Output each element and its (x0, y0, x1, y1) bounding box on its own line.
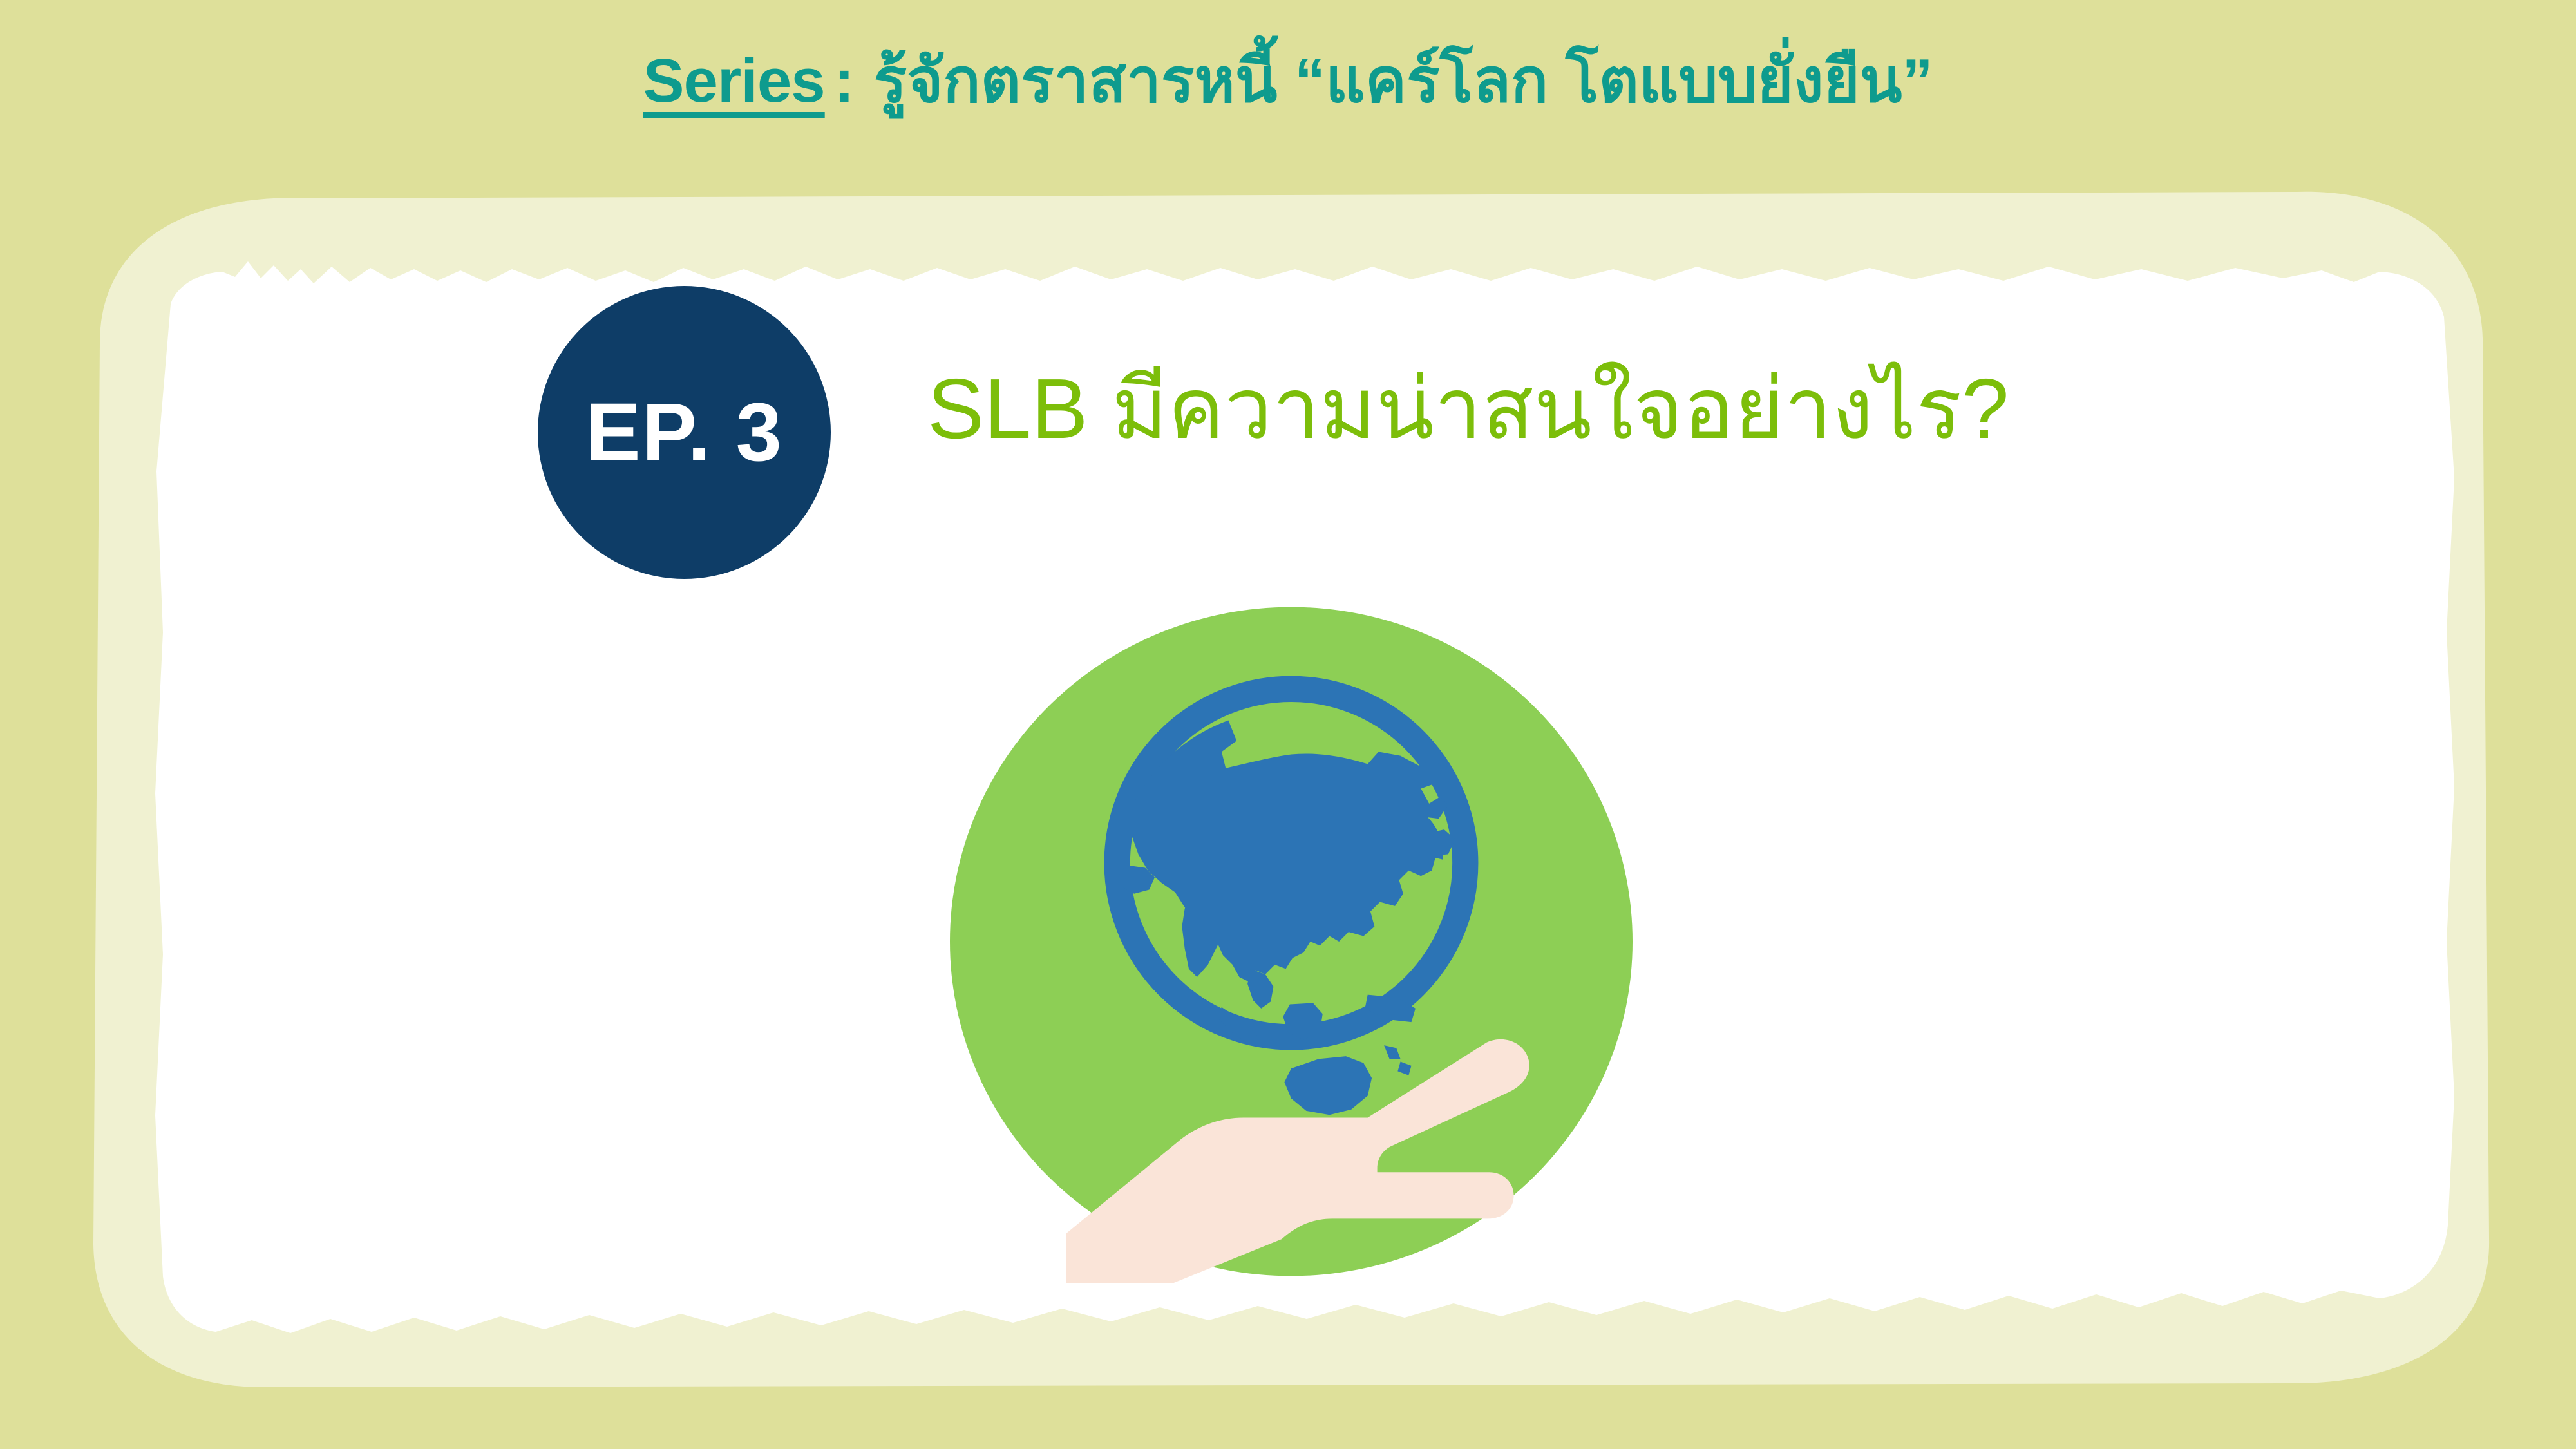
episode-badge: EP. 3 (538, 286, 831, 579)
slide-canvas: Series:รู้จักตราสารหนี้ “แคร์โลก โตแบบยั… (0, 0, 2576, 1449)
hand-holding-globe-illustration (950, 600, 1633, 1283)
series-separator: : (825, 46, 855, 115)
series-topic: รู้จักตราสารหนี้ “แคร์โลก โตแบบยั่งยืน” (855, 46, 1933, 115)
card-content: EP. 3 SLB มีความน่าสนใจอย่างไร? (61, 182, 2508, 1392)
series-label: Series (643, 46, 824, 115)
page-title: SLB มีความน่าสนใจอย่างไร? (927, 355, 2009, 462)
episode-badge-label: EP. 3 (585, 392, 783, 474)
series-header: Series:รู้จักตราสารหนี้ “แคร์โลก โตแบบยั… (0, 50, 2576, 112)
